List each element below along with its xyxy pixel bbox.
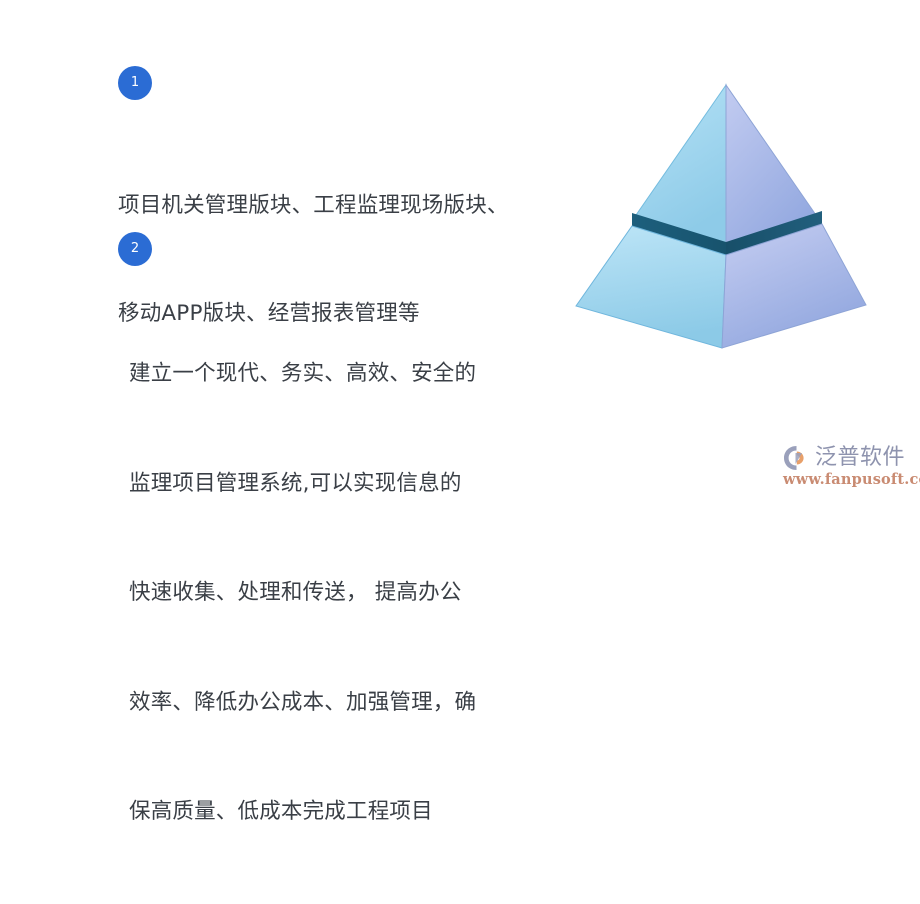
badge-two: 2 (118, 232, 152, 266)
watermark: 泛普软件 www.fanpusoft.com (782, 443, 918, 493)
section-two-text: 建立一个现代、务实、高效、安全的 监理项目管理系统,可以实现信息的 快速收集、处… (129, 283, 476, 904)
pyramid-graphic (556, 60, 886, 370)
badge-one: 1 (118, 66, 152, 100)
fanpu-logo-icon (782, 444, 812, 472)
section-one-line-1: 项目机关管理版块、工程监理现场版块、 (118, 188, 509, 224)
section-two-line-1: 建立一个现代、务实、高效、安全的 (129, 356, 476, 393)
section-two-line-2: 监理项目管理系统,可以实现信息的 (129, 466, 476, 503)
watermark-brand-name: 泛普软件 (815, 445, 905, 471)
section-two-line-5: 保高质量、低成本完成工程项目 (129, 794, 476, 831)
slide-canvas: 1 项目机关管理版块、工程监理现场版块、 移动APP版块、经营报表管理等 2 建… (0, 0, 920, 500)
watermark-brand-row: 泛普软件 (782, 443, 905, 473)
section-two-line-3: 快速收集、处理和传送， 提高办公 (129, 575, 476, 612)
watermark-url: www.fanpusoft.com (783, 471, 920, 489)
section-two-line-4: 效率、降低办公成本、加强管理，确 (129, 685, 476, 722)
